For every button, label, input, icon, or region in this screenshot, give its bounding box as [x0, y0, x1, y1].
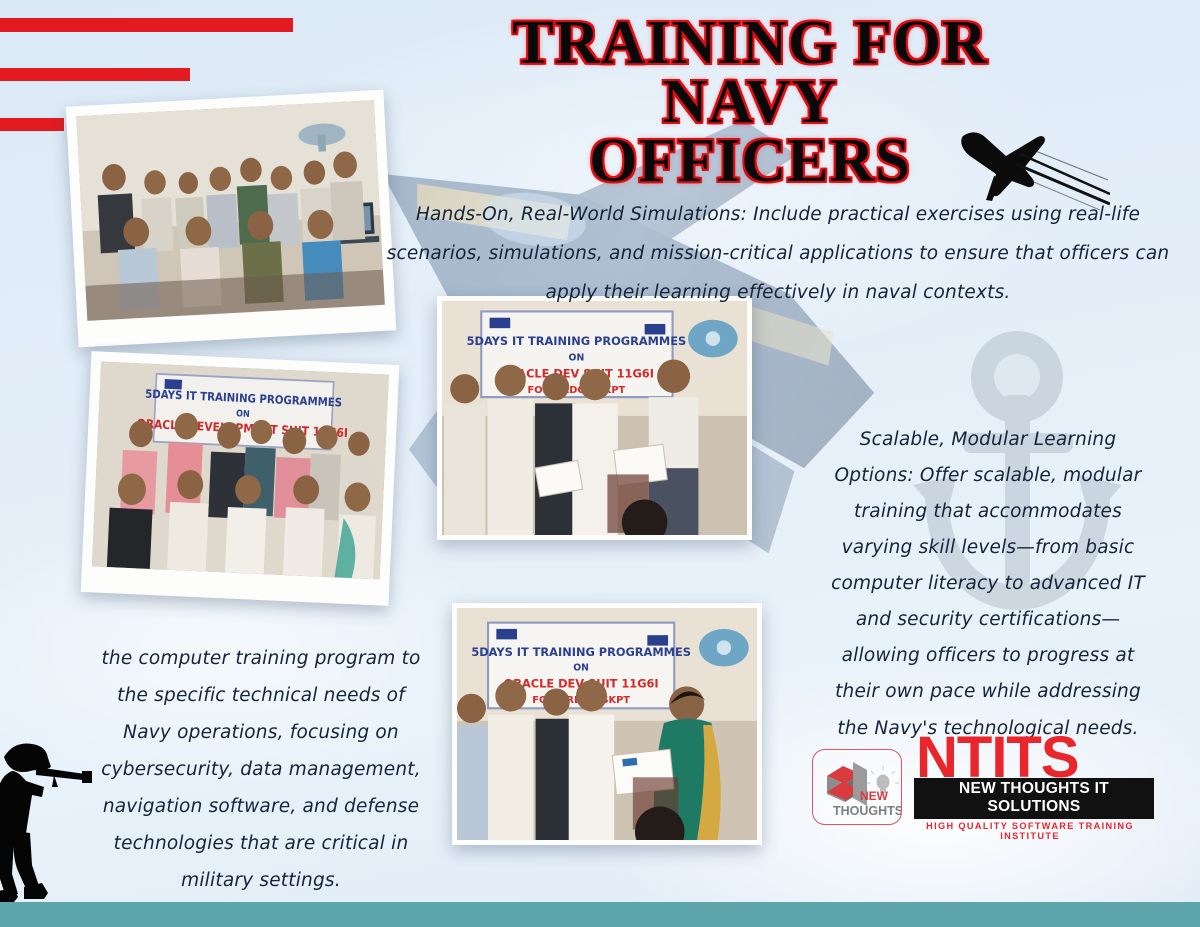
photo-group-classroom[interactable] — [66, 90, 397, 348]
title-line-2: OFFICERS — [420, 132, 1080, 191]
poster-canvas: U.S. NAVY TRAINING FOR NAVY OFFICERS — [0, 0, 1200, 927]
ntits-wordmark: NTITS — [916, 733, 1157, 783]
paragraph-top: Hands-On, Real-World Simulations: Includ… — [378, 196, 1178, 313]
ntits-logo[interactable]: NEW THOUGHTS NTITS NEW THOUGHTS IT SOLUT… — [812, 742, 1157, 832]
svg-text:ON: ON — [573, 663, 589, 674]
new-thoughts-mark-icon: NEW THOUGHTS — [812, 749, 902, 825]
photo-image — [76, 100, 385, 321]
svg-text:5DAYS IT TRAINING PROGRAMMES: 5DAYS IT TRAINING PROGRAMMES — [471, 645, 691, 659]
logo-new-text: NEW — [860, 789, 889, 803]
title-line-1: TRAINING FOR NAVY — [420, 14, 1080, 132]
svg-text:FOR DRDO VSKPT: FOR DRDO VSKPT — [528, 385, 626, 396]
svg-text:ON: ON — [236, 409, 250, 420]
photo-image: 5DAYS IT TRAINING PROGRAMMES ON ORACLE D… — [92, 362, 389, 580]
logo-thoughts-text: THOUGHTS — [833, 804, 901, 818]
photo-certificate-handover-1[interactable]: 5DAYS IT TRAINING PROGRAMMES ON ORACLE D… — [437, 296, 752, 540]
photo-certificate-handover-2[interactable]: 5DAYS IT TRAINING PROGRAMMES ON ORACLE D… — [452, 603, 762, 845]
decor-red-bar-1 — [0, 18, 293, 32]
page-title: TRAINING FOR NAVY OFFICERS — [420, 14, 1080, 191]
decor-red-bar-3 — [0, 118, 64, 131]
svg-text:ON: ON — [569, 353, 585, 364]
paragraph-left: the computer training program to the spe… — [96, 640, 426, 899]
ntits-wordmark-block: NTITS NEW THOUGHTS IT SOLUTIONS HIGH QUA… — [914, 733, 1157, 842]
ntits-tagline: HIGH QUALITY SOFTWARE TRAINING INSTITUTE — [914, 819, 1146, 841]
paragraph-right: Scalable, Modular Learning Options: Offe… — [828, 422, 1148, 747]
decor-red-bar-2 — [0, 68, 190, 81]
svg-text:5DAYS IT TRAINING PROGRAMMES: 5DAYS IT TRAINING PROGRAMMES — [467, 334, 687, 348]
photo-image: 5DAYS IT TRAINING PROGRAMMES ON ORACLE D… — [457, 608, 757, 840]
photo-image: 5DAYS IT TRAINING PROGRAMMES ON ORACLE D… — [442, 301, 747, 535]
footer-bar — [0, 902, 1200, 927]
photo-group-banner[interactable]: 5DAYS IT TRAINING PROGRAMMES ON ORACLE D… — [81, 351, 400, 606]
